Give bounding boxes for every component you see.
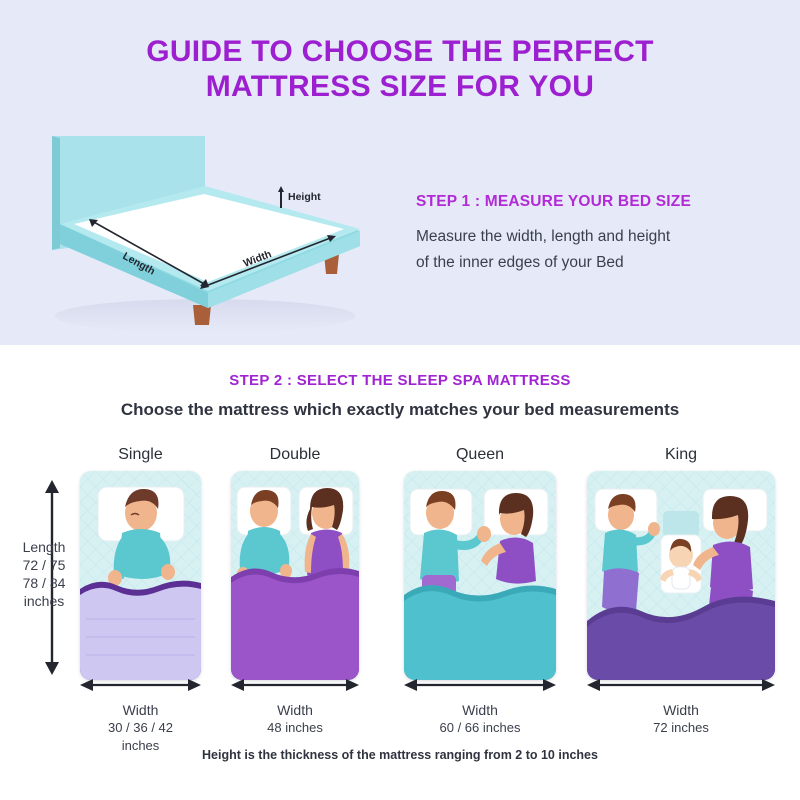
mattress-name-queen: Queen [404,446,556,464]
infographic-root: GUIDE TO CHOOSE THE PERFECT MATTRESS SIZ… [0,0,800,800]
bed-svg: Height Length Width [30,128,370,343]
bed-headboard-edge [52,136,60,250]
bed-leg-front [193,305,211,325]
width-value-single: 30 / 36 / 42 [80,719,201,737]
page-title-line1: GUIDE TO CHOOSE THE PERFECT [146,35,654,68]
width-measure-double: Width 48 inches [231,678,359,737]
man-body-double [245,527,283,575]
width-value-double: 48 inches [231,719,359,737]
person-hand-single [161,564,175,580]
length-value-line1: 72 / 75 [0,556,88,574]
mattress-image-double [231,471,359,680]
mattress-card-single[interactable]: Single [80,446,201,680]
bed-height-label: Height [288,191,321,203]
mattress-image-king [587,471,775,680]
width-label-single: Width [80,701,201,719]
step1-body-line1: Measure the width, length and height [416,224,756,250]
width-label-double: Width [231,701,359,719]
woman-body-queen [496,537,536,583]
step2-heading: STEP 2 : SELECT THE SLEEP SPA MATTRESS [0,372,800,389]
step2-subheading: Choose the mattress which exactly matche… [0,400,800,420]
page-title: GUIDE TO CHOOSE THE PERFECT MATTRESS SIZ… [0,34,800,104]
step1-heading: STEP 1 : MEASURE YOUR BED SIZE [416,193,756,211]
width-arrow-queen [404,678,556,692]
width-arrow-single [80,678,201,692]
woman-body-king [710,541,753,591]
width-value-queen: 60 / 66 inches [404,719,556,737]
blanket-single [80,587,201,680]
width-measure-queen: Width 60 / 66 inches [404,678,556,737]
width-label-king: Width [587,701,775,719]
width-label-queen: Width [404,701,556,719]
blanket-queen [404,591,556,680]
pillow-baby-king [663,511,699,537]
blanket-double [231,574,359,680]
mattress-card-double[interactable]: Double [231,446,359,680]
length-unit: inches [0,592,88,610]
length-measure-label: Length 72 / 75 78 / 84 inches [0,538,88,610]
man-legs-king [602,568,639,612]
length-label-text: Length [0,538,88,556]
width-arrow-double [231,678,359,692]
length-value-line2: 78 / 84 [0,574,88,592]
baby-body-king [672,567,690,589]
mattress-card-king[interactable]: King [587,446,775,680]
step1-body-line2: of the inner edges of your Bed [416,250,756,276]
mattress-image-single [80,471,201,680]
mattress-name-double: Double [231,446,359,464]
width-arrow-king [587,678,775,692]
man-hand-queen [477,526,491,542]
footer-note: Height is the thickness of the mattress … [0,748,800,762]
height-arrow-up [278,186,284,192]
mattress-name-king: King [587,446,775,464]
mattress-image-queen [404,471,556,680]
width-measure-king: Width 72 inches [587,678,775,737]
width-measure-single: Width 30 / 36 / 42 inches [80,678,201,755]
step1-block: STEP 1 : MEASURE YOUR BED SIZE Measure t… [416,193,756,276]
page-title-line2: MATTRESS SIZE FOR YOU [0,69,800,104]
mattress-card-queen[interactable]: Queen [404,446,556,680]
width-value-king: 72 inches [587,719,775,737]
bed-illustration: Height Length Width [30,128,370,343]
mattress-name-single: Single [80,446,201,464]
